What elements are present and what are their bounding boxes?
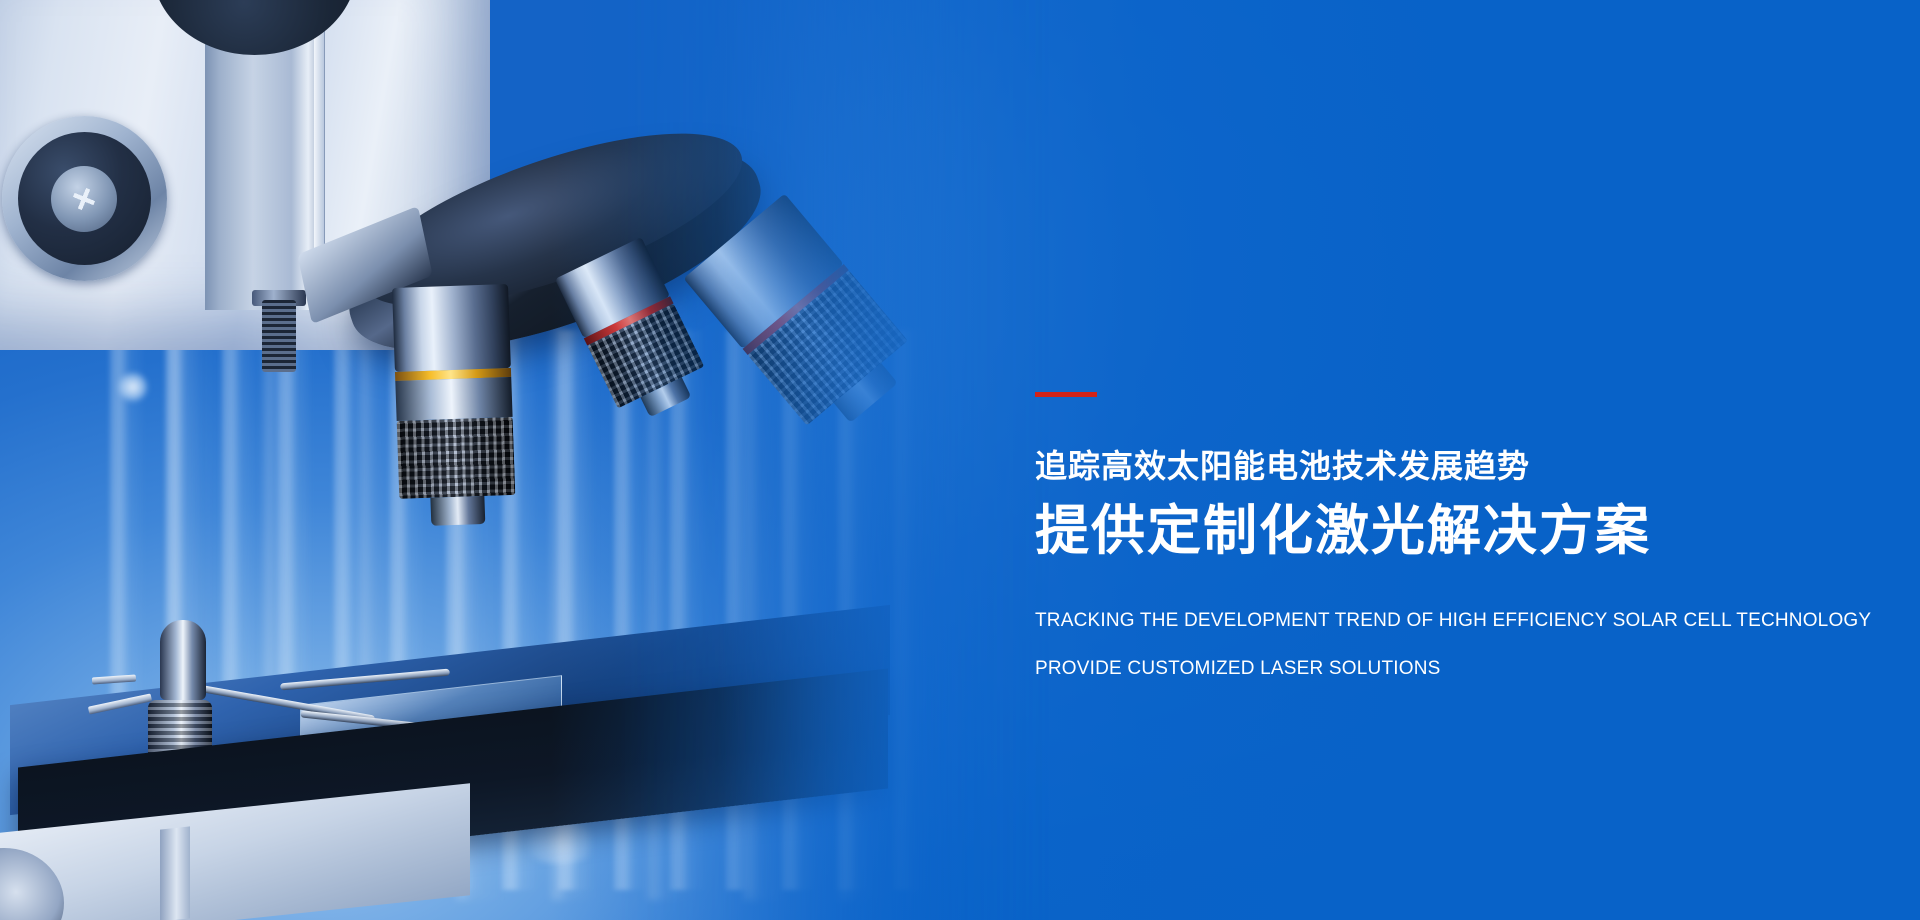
objective-front-lens (430, 496, 485, 526)
objective-knurled-grip (397, 417, 516, 499)
accent-rule (1035, 392, 1097, 397)
focus-knob-inner (18, 132, 151, 265)
bokeh-highlight (118, 372, 148, 402)
screw-head-icon (70, 185, 99, 214)
objective-barrel (392, 284, 511, 372)
microscope-photo (0, 0, 1060, 920)
hero-title: 提供定制化激光解决方案 (1035, 500, 1835, 562)
hero-content: 追踪高效太阳能电池技术发展趋势 提供定制化激光解决方案 TRACKING THE… (1035, 392, 1835, 683)
hero-banner: 追踪高效太阳能电池技术发展趋势 提供定制化激光解决方案 TRACKING THE… (0, 0, 1920, 920)
stage-support-rib (160, 826, 190, 920)
hero-eyebrow-heading: 追踪高效太阳能电池技术发展趋势 (1035, 449, 1835, 484)
objective-barrel-lower (395, 377, 512, 421)
stage-control-post (160, 620, 206, 700)
hero-subtitle-line-1: TRACKING THE DEVELOPMENT TREND OF HIGH E… (1035, 606, 1835, 635)
adjustment-screw (262, 300, 296, 372)
focus-knob-core (51, 166, 117, 232)
hero-subtitle-line-2: PROVIDE CUSTOMIZED LASER SOLUTIONS (1035, 654, 1835, 683)
objective-lens-1 (392, 284, 516, 527)
focus-knob (2, 116, 167, 281)
